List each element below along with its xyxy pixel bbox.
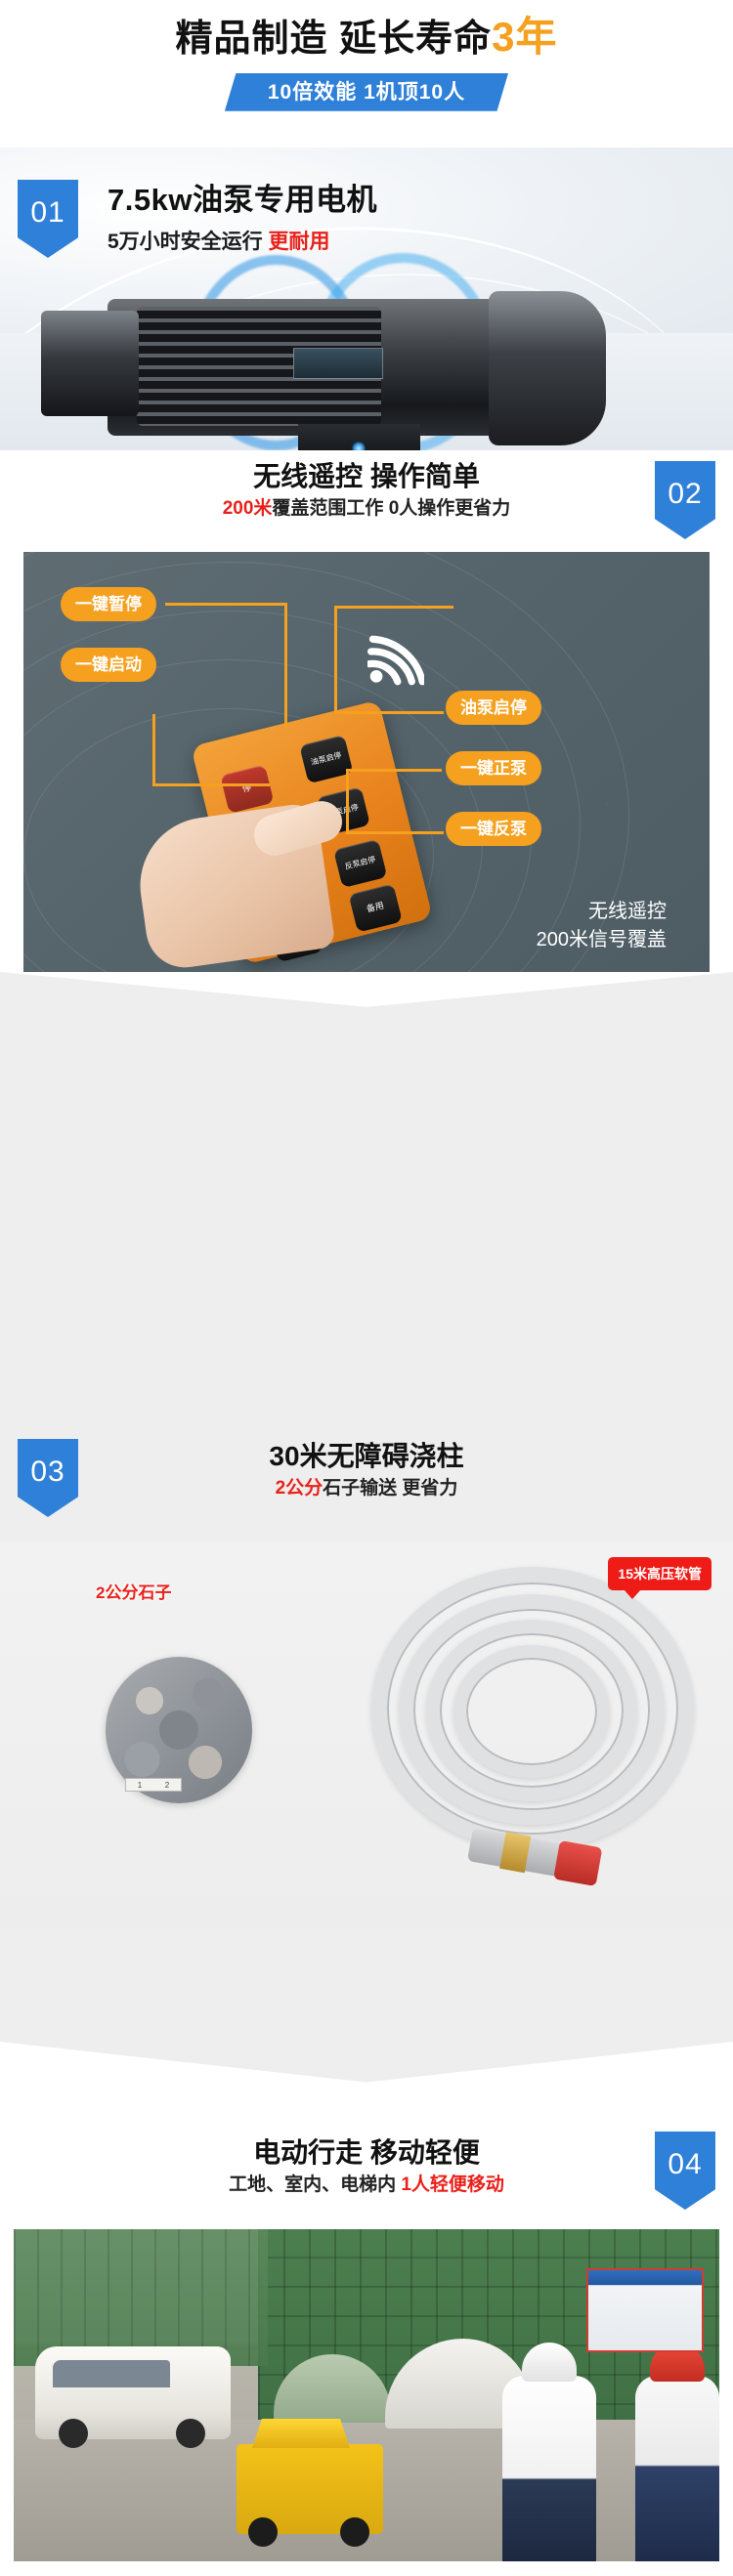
- callout-leader-line: [346, 769, 442, 772]
- page-header: 精品制造 延长寿命3年 10倍效能 1机顶10人: [0, 0, 733, 111]
- section-number-badge: 04: [655, 2132, 715, 2210]
- section-02-subtitle-highlight: 200米: [223, 498, 273, 519]
- callout-leader-line: [284, 603, 287, 728]
- section-01-badge-wrap: 01: [18, 180, 78, 258]
- section-divider-chevron-down-icon: [0, 2042, 733, 2120]
- section-04-subtitle-highlight: 1人轻便移动: [401, 2175, 504, 2195]
- worker-figure: [635, 2376, 719, 2561]
- motor-photo: [0, 250, 733, 450]
- machine-wheel: [340, 2517, 369, 2547]
- section-02-subtitle-plain: 覆盖范围工作 0人操作更省力: [272, 498, 510, 519]
- remote-key-reverse-pump[interactable]: 反泵启停: [333, 839, 387, 888]
- construction-site-photo: [14, 2229, 719, 2561]
- section-04-heading: 电动行走 移动轻便 工地、室内、电梯内 1人轻便移动: [0, 2135, 733, 2197]
- stone-scale-ruler: 1 2: [125, 1778, 182, 1792]
- page-title-main: 精品制造 延长寿命: [176, 19, 493, 60]
- section-number-badge: 02: [655, 461, 715, 539]
- hose-coil: [453, 1645, 610, 1778]
- section-04-subtitle: 工地、室内、电梯内 1人轻便移动: [0, 2175, 733, 2197]
- concrete-pump-machine: [237, 2444, 383, 2534]
- scale-tick-2: 2: [165, 1781, 169, 1790]
- site-safety-board: [586, 2268, 704, 2352]
- coiled-hose: [362, 1559, 713, 1881]
- oil-pump-head: [41, 311, 139, 416]
- remote-key-stop[interactable]: 停: [220, 765, 274, 814]
- stone-size-label: 2公分石子: [96, 1579, 171, 1603]
- machine-hopper: [252, 2419, 350, 2448]
- section-04-subtitle-plain: 工地、室内、电梯内: [229, 2175, 401, 2195]
- section-03-heading: 30米无障碍浇柱 2公分石子输送 更省力: [0, 1439, 733, 1500]
- motor-end-cap: [489, 291, 606, 445]
- section-02-subtitle: 200米覆盖范围工作 0人操作更省力: [0, 498, 733, 521]
- header-ribbon: 10倍效能 1机顶10人: [225, 73, 508, 111]
- remote-control-photo: 停 油泵启停 动 正泵启停 备用 反泵启停 备用 备用: [23, 552, 710, 972]
- section-02-badge-wrap: 02: [655, 461, 715, 539]
- section-01-motor: 01 7.5kw油泵专用电机 5万小时安全运行 更耐用: [0, 148, 733, 450]
- callout-leader-line: [346, 831, 444, 834]
- machine-wheel: [248, 2517, 278, 2547]
- section-04-mobility: 电动行走 移动轻便 工地、室内、电梯内 1人轻便移动 04: [0, 2120, 733, 2576]
- section-04-title: 电动行走 移动轻便: [0, 2135, 733, 2170]
- remote-key-spare-3[interactable]: 备用: [349, 883, 403, 932]
- section-02-heading: 无线遥控 操作简单 200米覆盖范围工作 0人操作更省力: [0, 459, 733, 521]
- section-03-title: 30米无障碍浇柱: [0, 1439, 733, 1473]
- section-number-badge: 01: [18, 180, 78, 258]
- section-04-badge-wrap: 04: [655, 2132, 715, 2210]
- section-02-title: 无线遥控 操作简单: [0, 459, 733, 493]
- callout-leader-line: [334, 711, 444, 714]
- scale-tick-1: 1: [138, 1781, 142, 1790]
- callout-leader-line: [165, 603, 287, 606]
- callout-start: 一键启动: [61, 648, 156, 682]
- remote-caption-line-2: 200米信号覆盖: [537, 926, 667, 954]
- led-glow-icon: [352, 442, 366, 450]
- section-03-hose: 03 30米无障碍浇柱 2公分石子输送 更省力 2公分石子 1: [0, 1024, 733, 2120]
- callout-reverse-pump: 一键反泵: [446, 812, 541, 846]
- hose-length-badge: 15米高压软管: [608, 1557, 711, 1590]
- header-ribbon-wrap: 10倍效能 1机顶10人: [0, 73, 733, 111]
- callout-leader-line: [152, 783, 270, 786]
- white-van: [35, 2346, 231, 2439]
- callout-leader-line: [346, 769, 349, 833]
- section-03-subtitle-highlight: 2公分: [276, 1478, 323, 1499]
- hose-coupler-cap: [553, 1840, 602, 1886]
- hose-coupler-band: [499, 1832, 531, 1873]
- callout-forward-pump: 一键正泵: [446, 751, 541, 785]
- callout-pause: 一键暂停: [61, 587, 156, 621]
- page-title: 精品制造 延长寿命3年: [0, 14, 733, 62]
- section-03-subtitle-plain: 石子输送 更省力: [323, 1478, 457, 1499]
- scaffolding-net-left: [14, 2229, 268, 2366]
- callout-leader-line: [152, 714, 155, 786]
- callout-oil-pump-toggle: 油泵启停: [446, 691, 541, 725]
- page-title-accent: 3年: [492, 14, 557, 60]
- wifi-signal-icon: [367, 635, 424, 686]
- callout-leader-line: [334, 606, 337, 713]
- section-03-subtitle: 2公分石子输送 更省力: [0, 1478, 733, 1500]
- callout-leader-line: [336, 606, 453, 609]
- section-01-heading: 7.5kw油泵专用电机 5万小时安全运行 更耐用: [108, 175, 377, 255]
- van-window: [53, 2360, 170, 2387]
- remote-photo-caption: 无线遥控 200米信号覆盖: [537, 898, 667, 954]
- motor-nameplate: [293, 348, 383, 379]
- van-wheel: [59, 2419, 88, 2448]
- product-detail-page: 精品制造 延长寿命3年 10倍效能 1机顶10人 01 7.5kw油泵专用电机 …: [0, 0, 733, 2576]
- remote-caption-line-1: 无线遥控: [537, 898, 667, 926]
- section-01-title: 7.5kw油泵专用电机: [108, 175, 377, 219]
- van-wheel: [176, 2419, 205, 2448]
- worker-figure: [502, 2376, 596, 2561]
- hose-photo: 2公分石子 1 2 15米高压软管: [0, 1541, 733, 1927]
